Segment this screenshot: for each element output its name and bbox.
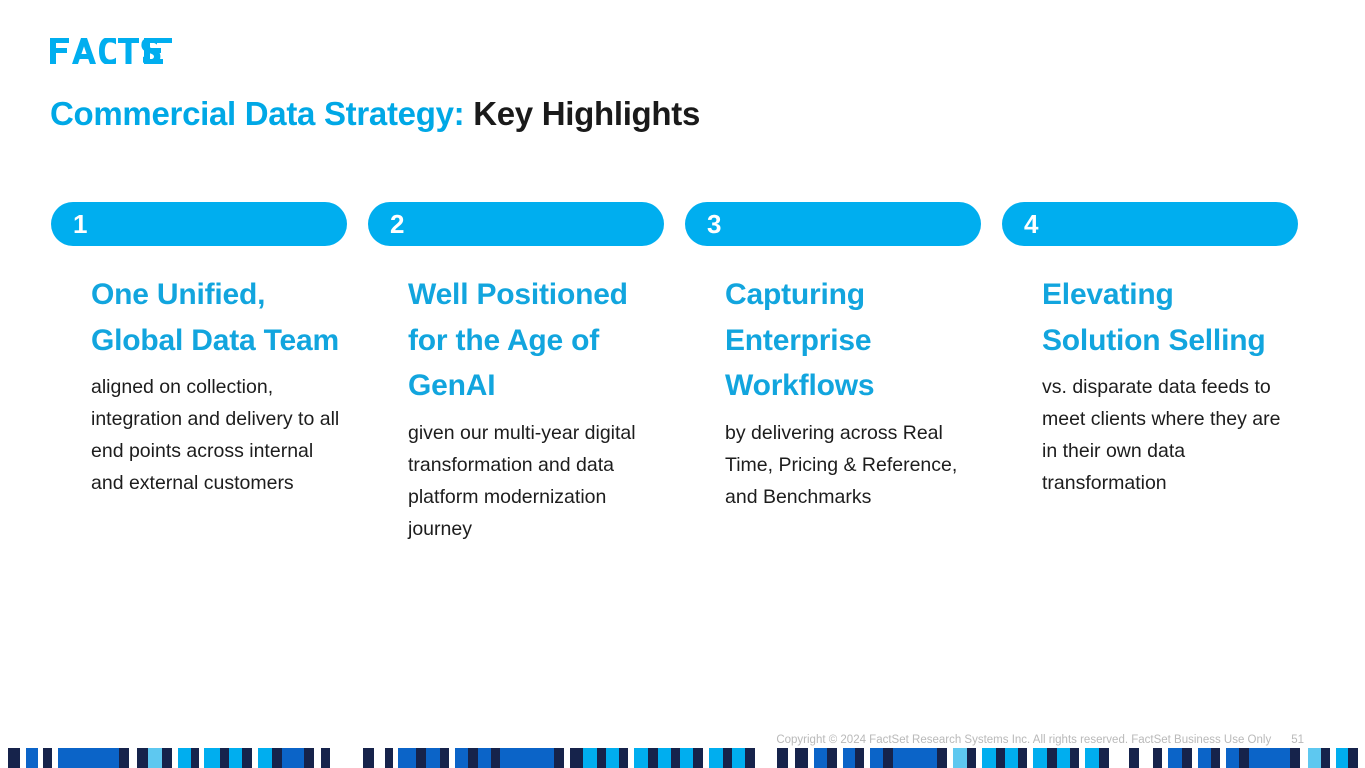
number-pill-4: 4 <box>1002 202 1298 246</box>
barcode-bar <box>1348 748 1358 768</box>
barcode-bar <box>416 748 426 768</box>
barcode-bar <box>870 748 883 768</box>
number-pill-3: 3 <box>685 202 981 246</box>
barcode-bar <box>272 748 282 768</box>
barcode-bar <box>162 748 172 768</box>
barcode-bar <box>658 748 671 768</box>
barcode-bar <box>229 748 242 768</box>
barcode-bar <box>1249 748 1289 768</box>
barcode-bar <box>204 748 220 768</box>
barcode-bar <box>330 748 362 768</box>
barcode-bar <box>982 748 996 768</box>
number-pill-label: 1 <box>73 211 87 237</box>
barcode-bar <box>1321 748 1330 768</box>
barcode-bar <box>755 748 777 768</box>
barcode-bar <box>814 748 827 768</box>
barcode-bar <box>709 748 723 768</box>
barcode-bar <box>937 748 947 768</box>
column-body: given our multi-year digital transformat… <box>368 417 664 545</box>
barcode-bar <box>363 748 374 768</box>
barcode-bar <box>570 748 582 768</box>
barcode-bar <box>1226 748 1239 768</box>
highlight-column-4: 4 Elevating Solution Selling vs. dispara… <box>1002 202 1298 545</box>
barcode-bar <box>43 748 52 768</box>
highlight-column-2: 2 Well Positioned for the Age of GenAI g… <box>368 202 664 545</box>
barcode-bar <box>1239 748 1249 768</box>
highlight-columns: 1 One Unified, Global Data Team aligned … <box>51 202 1303 545</box>
barcode-bar <box>967 748 976 768</box>
barcode-bar <box>1358 748 1364 768</box>
barcode-bar <box>1070 748 1079 768</box>
highlight-column-3: 3 Capturing Enterprise Workflows by deli… <box>685 202 981 545</box>
barcode-bar <box>374 748 385 768</box>
factset-logo-icon <box>50 38 172 64</box>
barcode-bar <box>606 748 619 768</box>
barcode-bar <box>304 748 314 768</box>
barcode-bar <box>1336 748 1348 768</box>
barcode-bar <box>883 748 893 768</box>
barcode-bar <box>1290 748 1300 768</box>
page-number: 51 <box>1291 734 1304 746</box>
barcode-bar <box>258 748 272 768</box>
barcode-stripe <box>0 748 1365 768</box>
barcode-bar <box>996 748 1005 768</box>
barcode-bar <box>732 748 745 768</box>
barcode-bar <box>220 748 229 768</box>
barcode-bar <box>1182 748 1192 768</box>
number-pill-1: 1 <box>51 202 347 246</box>
barcode-bar <box>827 748 837 768</box>
page-title: Commercial Data Strategy: Key Highlights <box>50 92 700 136</box>
barcode-bar <box>385 748 393 768</box>
barcode-bar <box>1033 748 1046 768</box>
barcode-bar <box>1005 748 1018 768</box>
barcode-bar <box>745 748 755 768</box>
barcode-bar <box>1018 748 1027 768</box>
factset-logo <box>50 34 172 68</box>
column-heading: Well Positioned for the Age of GenAI <box>368 272 664 409</box>
barcode-bar <box>1139 748 1153 768</box>
page-title-accent: Commercial Data Strategy: <box>50 95 464 132</box>
barcode-bar <box>321 748 330 768</box>
barcode-bar <box>1057 748 1070 768</box>
barcode-bar <box>634 748 648 768</box>
barcode-bar <box>148 748 162 768</box>
barcode-bar <box>426 748 440 768</box>
barcode-bar <box>843 748 855 768</box>
barcode-bar <box>1109 748 1129 768</box>
barcode-bar <box>671 748 680 768</box>
barcode-bar <box>1198 748 1211 768</box>
barcode-bar <box>554 748 564 768</box>
column-heading: Capturing Enterprise Workflows <box>685 272 981 409</box>
barcode-bar <box>440 748 449 768</box>
barcode-bar <box>1168 748 1182 768</box>
barcode-bar <box>282 748 304 768</box>
barcode-bar <box>619 748 628 768</box>
barcode-bar <box>680 748 693 768</box>
barcode-bar <box>119 748 129 768</box>
copyright-text: Copyright © 2024 FactSet Research System… <box>776 734 1271 746</box>
barcode-bar <box>491 748 500 768</box>
barcode-bar <box>1308 748 1321 768</box>
barcode-bar <box>953 748 967 768</box>
barcode-bar <box>500 748 554 768</box>
barcode-bar <box>478 748 491 768</box>
barcode-bar <box>1129 748 1139 768</box>
column-heading: Elevating Solution Selling <box>1002 272 1298 363</box>
barcode-bar <box>191 748 199 768</box>
barcode-bar <box>693 748 703 768</box>
barcode-bar <box>129 748 137 768</box>
number-pill-label: 4 <box>1024 211 1038 237</box>
column-body: aligned on collection, integration and d… <box>51 371 347 499</box>
column-body: by delivering across Real Time, Pricing … <box>685 417 981 513</box>
highlight-column-1: 1 One Unified, Global Data Team aligned … <box>51 202 347 545</box>
barcode-bar <box>242 748 252 768</box>
page-title-plain: Key Highlights <box>473 95 700 132</box>
barcode-bar <box>795 748 807 768</box>
barcode-bar <box>777 748 788 768</box>
slide-footer: Copyright © 2024 FactSet Research System… <box>776 734 1304 746</box>
barcode-bar <box>788 748 795 768</box>
barcode-bar <box>398 748 416 768</box>
barcode-bar <box>597 748 606 768</box>
barcode-bar <box>137 748 148 768</box>
barcode-bar <box>855 748 864 768</box>
barcode-bar <box>648 748 658 768</box>
column-body: vs. disparate data feeds to meet clients… <box>1002 371 1298 499</box>
barcode-bar <box>893 748 937 768</box>
barcode-bar <box>0 748 8 768</box>
column-heading: One Unified, Global Data Team <box>51 272 347 363</box>
barcode-bar <box>1211 748 1220 768</box>
barcode-bar <box>8 748 20 768</box>
barcode-bar <box>455 748 468 768</box>
barcode-bar <box>26 748 38 768</box>
barcode-bar <box>583 748 597 768</box>
barcode-bar <box>314 748 321 768</box>
barcode-bar <box>58 748 118 768</box>
number-pill-label: 2 <box>390 211 404 237</box>
barcode-bar <box>1099 748 1109 768</box>
number-pill-label: 3 <box>707 211 721 237</box>
barcode-bar <box>1085 748 1099 768</box>
barcode-bar <box>723 748 732 768</box>
number-pill-2: 2 <box>368 202 664 246</box>
barcode-bar <box>1153 748 1162 768</box>
barcode-bar <box>178 748 191 768</box>
barcode-bar <box>1047 748 1057 768</box>
barcode-bar <box>468 748 478 768</box>
slide-root: Commercial Data Strategy: Key Highlights… <box>0 0 1365 768</box>
barcode-bar <box>1300 748 1308 768</box>
